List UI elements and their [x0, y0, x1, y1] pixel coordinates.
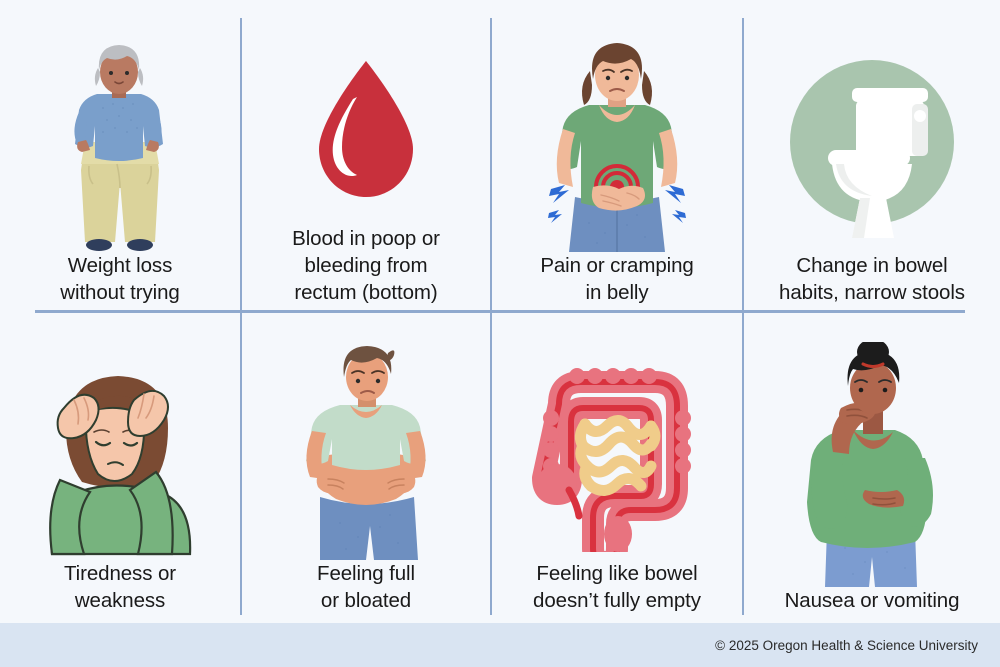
grid-divider-vertical — [490, 18, 492, 615]
art-slot — [242, 10, 490, 225]
grid-divider-vertical — [240, 18, 242, 615]
caption-line: Blood in poop or — [248, 225, 484, 252]
intestine-colon-illustration — [525, 362, 710, 552]
caption-line: Feeling full — [248, 560, 484, 587]
symptom-caption: Tiredness or weakness — [0, 560, 240, 614]
grid-divider-horizontal — [35, 310, 965, 313]
person-nausea-illustration — [785, 342, 960, 587]
caption-line: in belly — [498, 279, 736, 306]
symptom-caption: Nausea or vomiting — [744, 587, 1000, 614]
toilet-illustration — [774, 46, 970, 242]
grid-divider-vertical — [742, 18, 744, 615]
caption-line: weakness — [6, 587, 234, 614]
symptom-grid: Weight loss without trying Blood in poop… — [0, 0, 1000, 623]
art-slot — [0, 10, 240, 252]
symptom-card-bowel-habit-change: Change in bowel habits, narrow stools — [744, 10, 1000, 306]
symptom-caption: Feeling like bowel doesn’t fully empty — [492, 560, 742, 614]
caption-line: or bloated — [248, 587, 484, 614]
caption-line: without trying — [6, 279, 234, 306]
art-slot — [0, 318, 240, 560]
person-oversized-pants-illustration — [45, 42, 195, 252]
art-slot — [744, 318, 1000, 587]
caption-line: Feeling like bowel — [498, 560, 736, 587]
person-fatigue-illustration — [30, 360, 210, 560]
caption-line: doesn’t fully empty — [498, 587, 736, 614]
symptom-caption: Pain or cramping in belly — [492, 252, 742, 306]
person-bloated-belly-illustration — [284, 345, 449, 560]
symptom-caption: Weight loss without trying — [0, 252, 240, 306]
symptom-card-weight-loss: Weight loss without trying — [0, 10, 240, 306]
caption-line: Pain or cramping — [498, 252, 736, 279]
caption-line: habits, narrow stools — [750, 279, 994, 306]
caption-line: Change in bowel — [750, 252, 994, 279]
art-slot — [492, 318, 742, 560]
symptom-card-nausea: Nausea or vomiting — [744, 318, 1000, 614]
caption-line: bleeding from — [248, 252, 484, 279]
person-belly-pain-illustration — [527, 37, 707, 252]
symptom-card-bloating: Feeling full or bloated — [242, 318, 490, 614]
caption-line: Tiredness or — [6, 560, 234, 587]
symptoms-infographic: Weight loss without trying Blood in poop… — [0, 0, 1000, 667]
symptom-caption: Feeling full or bloated — [242, 560, 490, 614]
art-slot — [492, 10, 742, 252]
symptom-card-abdominal-pain: Pain or cramping in belly — [492, 10, 742, 306]
symptom-card-incomplete-emptying: Feeling like bowel doesn’t fully empty — [492, 318, 742, 614]
footer-bar: © 2025 Oregon Health & Science Universit… — [0, 623, 1000, 667]
symptom-caption: Change in bowel habits, narrow stools — [744, 252, 1000, 306]
caption-line: Weight loss — [6, 252, 234, 279]
caption-line: rectum (bottom) — [248, 279, 484, 306]
art-slot — [744, 10, 1000, 252]
symptom-caption: Blood in poop or bleeding from rectum (b… — [242, 225, 490, 306]
symptom-card-tiredness: Tiredness or weakness — [0, 318, 240, 614]
blood-drop-illustration — [301, 51, 431, 211]
copyright-notice: © 2025 Oregon Health & Science Universit… — [715, 638, 1000, 653]
art-slot — [242, 318, 490, 560]
symptom-card-blood-in-stool: Blood in poop or bleeding from rectum (b… — [242, 10, 490, 306]
caption-line: Nausea or vomiting — [750, 587, 994, 614]
